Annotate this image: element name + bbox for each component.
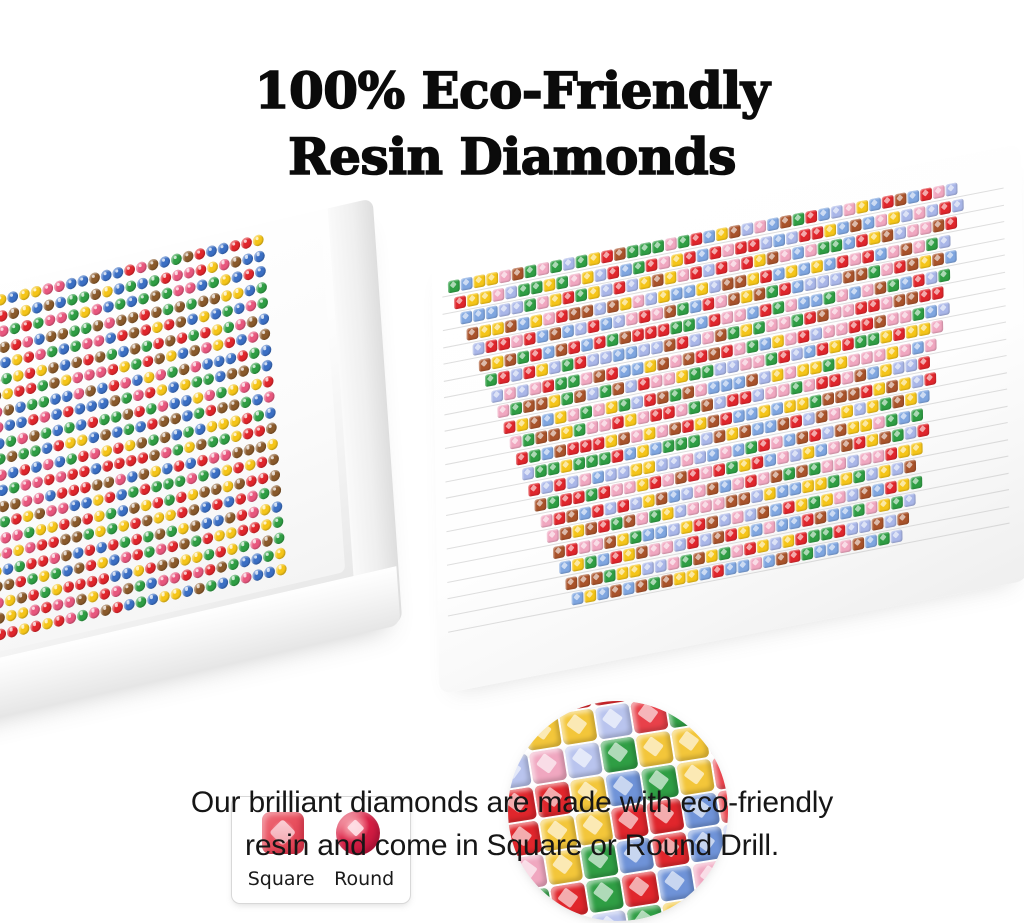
round-drill — [161, 287, 172, 301]
round-drill — [250, 536, 261, 550]
round-drill — [188, 503, 199, 517]
square-drill — [631, 395, 643, 409]
square-drill — [739, 390, 751, 404]
square-drill — [907, 223, 919, 237]
square-drill — [740, 357, 752, 371]
round-drill — [127, 485, 138, 499]
square-drill — [601, 249, 613, 263]
square-drill — [886, 379, 898, 393]
round-drill — [206, 419, 217, 433]
round-drill — [90, 287, 101, 301]
square-drill — [745, 473, 757, 487]
square-drill — [587, 387, 599, 401]
square-drill — [511, 334, 523, 348]
round-drill — [162, 302, 173, 316]
square-drill — [848, 386, 860, 400]
round-drill — [73, 561, 84, 575]
round-drill — [78, 290, 89, 304]
square-drill — [580, 371, 592, 385]
square-drill — [891, 495, 903, 509]
square-drill — [517, 383, 529, 397]
square-drill — [886, 345, 898, 359]
round-drill — [120, 376, 131, 390]
round-drill — [77, 449, 88, 463]
round-drill — [163, 477, 174, 491]
square-drill — [702, 364, 714, 378]
round-drill — [240, 570, 251, 584]
round-drill — [233, 461, 244, 475]
square-drill — [754, 253, 766, 267]
square-drill — [786, 230, 798, 244]
square-drill — [887, 311, 899, 325]
round-drill — [229, 239, 240, 253]
round-drill — [39, 585, 50, 599]
round-drill — [148, 433, 159, 447]
square-drill — [733, 375, 745, 389]
square-drill — [752, 388, 764, 402]
square-drill — [686, 569, 698, 583]
square-drill — [835, 389, 847, 403]
square-drill — [510, 368, 522, 382]
round-drill — [104, 316, 115, 330]
round-drill — [141, 514, 152, 528]
square-drill — [913, 273, 925, 287]
square-drill — [650, 408, 662, 422]
round-drill — [21, 494, 32, 508]
round-drill — [146, 417, 157, 431]
square-drill — [517, 316, 529, 330]
square-drill — [879, 397, 891, 411]
square-drill — [836, 321, 848, 335]
square-drill — [550, 293, 562, 307]
round-drill — [263, 549, 274, 563]
round-drill — [113, 282, 124, 296]
round-drill — [259, 502, 270, 516]
round-drill — [106, 522, 117, 536]
round-drill — [170, 412, 181, 426]
square-drill — [707, 719, 728, 756]
square-drill — [675, 470, 687, 484]
round-drill — [228, 558, 239, 572]
round-drill — [171, 427, 182, 441]
square-drill — [592, 503, 604, 517]
round-drill — [146, 576, 157, 590]
round-drill — [35, 348, 46, 362]
round-drill — [112, 600, 123, 614]
round-drill — [112, 266, 123, 280]
round-drill — [0, 356, 11, 370]
square-drill — [652, 239, 664, 253]
square-drill — [591, 537, 603, 551]
round-drill — [244, 458, 255, 472]
round-drill — [179, 378, 190, 392]
round-drill — [182, 250, 193, 264]
square-drill — [473, 341, 485, 355]
square-drill — [556, 275, 568, 289]
square-drill — [549, 327, 561, 341]
square-drill — [636, 545, 648, 559]
square-drill — [606, 400, 618, 414]
square-drill — [550, 882, 589, 919]
square-drill — [706, 481, 718, 495]
square-drill — [862, 249, 874, 263]
square-drill — [777, 417, 789, 431]
square-drill — [815, 477, 827, 491]
round-drill — [184, 440, 195, 454]
round-drill — [60, 373, 71, 387]
square-drill — [873, 415, 885, 429]
square-drill — [879, 464, 891, 478]
square-drill — [517, 350, 529, 364]
square-drill — [670, 320, 682, 334]
square-drill — [765, 419, 777, 433]
square-drill — [834, 490, 846, 504]
square-drill — [567, 474, 579, 488]
square-drill — [945, 216, 957, 230]
square-drill — [884, 514, 896, 528]
round-drill — [192, 391, 203, 405]
round-drill — [150, 464, 161, 478]
round-drill — [198, 469, 209, 483]
round-drill — [255, 265, 266, 279]
square-drill — [650, 441, 662, 455]
square-drill — [612, 415, 624, 429]
round-drill — [76, 433, 87, 447]
square-drill — [713, 429, 725, 443]
square-drill — [878, 498, 890, 512]
square-drill — [658, 255, 670, 269]
round-drill — [161, 461, 172, 475]
round-drill — [67, 467, 78, 481]
round-drill — [195, 438, 206, 452]
square-drill — [716, 227, 728, 241]
square-drill — [701, 432, 713, 446]
round-drill — [34, 332, 45, 346]
square-drill — [732, 442, 744, 456]
round-drill — [224, 336, 235, 350]
square-drill — [875, 213, 887, 227]
round-drill — [50, 392, 61, 406]
square-drill — [708, 346, 720, 360]
round-drill — [36, 363, 47, 377]
round-drill — [91, 303, 102, 317]
round-drill — [41, 601, 52, 615]
round-drill — [88, 431, 99, 445]
square-drill — [865, 534, 877, 548]
round-drill — [209, 466, 220, 480]
round-drill — [44, 314, 55, 328]
square-drill — [816, 376, 828, 390]
square-drill — [933, 185, 945, 199]
round-drill — [262, 375, 273, 389]
square-drill — [693, 517, 705, 531]
square-drill — [828, 407, 840, 421]
round-drill — [119, 360, 130, 374]
round-drill — [159, 255, 170, 269]
round-drill — [38, 394, 49, 408]
square-drill — [894, 260, 906, 274]
round-drill — [249, 521, 260, 535]
round-drill — [59, 358, 70, 372]
round-drill — [274, 547, 285, 561]
round-drill — [217, 242, 228, 256]
square-drill — [555, 376, 567, 390]
square-drill — [511, 300, 523, 314]
round-drill — [229, 573, 240, 587]
square-drill — [699, 566, 711, 580]
round-drill — [72, 371, 83, 385]
square-drill — [865, 500, 877, 514]
square-drill — [638, 343, 650, 357]
square-drill — [821, 526, 833, 540]
square-drill — [898, 410, 910, 424]
square-drill — [874, 280, 886, 294]
round-drill — [194, 422, 205, 436]
round-drill — [26, 397, 37, 411]
square-drill — [548, 394, 560, 408]
square-drill — [893, 293, 905, 307]
round-drill — [207, 260, 218, 274]
round-drill — [213, 354, 224, 368]
round-drill — [275, 562, 286, 576]
round-drill — [28, 588, 39, 602]
square-drill — [595, 703, 634, 740]
round-drill — [74, 402, 85, 416]
round-drill — [267, 437, 278, 451]
round-drill — [20, 303, 31, 317]
round-drill — [0, 405, 3, 419]
square-drill — [637, 478, 649, 492]
square-drill — [830, 306, 842, 320]
square-drill — [670, 354, 682, 368]
square-drill — [911, 441, 923, 455]
round-drill — [41, 441, 52, 455]
square-drill — [738, 525, 750, 539]
round-drill — [129, 501, 140, 515]
round-drill — [8, 306, 19, 320]
round-drill — [65, 436, 76, 450]
square-drill — [855, 267, 867, 281]
square-drill — [892, 394, 904, 408]
round-drill — [241, 236, 252, 250]
round-drill — [64, 420, 75, 434]
square-drill — [651, 307, 663, 321]
round-drill — [186, 297, 197, 311]
square-drill — [822, 391, 834, 405]
round-drill — [33, 491, 44, 505]
round-drill — [124, 438, 135, 452]
square-drill — [885, 480, 897, 494]
square-drill — [581, 304, 593, 318]
round-drill — [31, 301, 42, 315]
square-drill — [741, 256, 753, 270]
square-drill — [770, 502, 782, 516]
square-drill — [554, 477, 566, 491]
square-drill — [585, 488, 597, 502]
round-drill — [202, 532, 213, 546]
round-drill — [26, 556, 37, 570]
round-drill — [197, 294, 208, 308]
square-drill — [562, 324, 574, 338]
round-drill — [231, 430, 242, 444]
square-drill — [663, 405, 675, 419]
square-drill — [772, 334, 784, 348]
square-drill — [735, 240, 747, 254]
square-drill — [904, 493, 916, 507]
round-drill — [18, 447, 29, 461]
square-drill — [690, 232, 702, 246]
round-drill — [144, 545, 155, 559]
round-drill — [53, 439, 64, 453]
round-drill — [255, 440, 266, 454]
square-drill — [911, 374, 923, 388]
square-drill — [905, 358, 917, 372]
round-drill — [190, 359, 201, 373]
round-drill — [109, 394, 120, 408]
square-drill — [485, 373, 497, 387]
square-drill — [713, 496, 725, 510]
round-drill — [140, 323, 151, 337]
round-drill — [220, 273, 231, 287]
square-drill — [649, 509, 661, 523]
round-drill — [88, 606, 99, 620]
square-drill — [578, 539, 590, 553]
square-drill — [720, 411, 732, 425]
round-drill — [3, 403, 14, 417]
round-drill — [2, 387, 13, 401]
square-drill — [695, 349, 707, 363]
square-drill — [568, 373, 580, 387]
square-drill — [572, 557, 584, 571]
round-drill — [31, 460, 42, 474]
round-drill — [246, 315, 257, 329]
square-drill — [604, 501, 616, 515]
square-drill — [783, 500, 795, 514]
square-drill — [593, 368, 605, 382]
round-drill — [15, 575, 26, 589]
square-drill — [721, 344, 733, 358]
square-drill — [874, 314, 886, 328]
square-drill — [827, 542, 839, 556]
round-drill — [134, 579, 145, 593]
round-drill — [19, 462, 30, 476]
round-drill — [270, 484, 281, 498]
square-drill — [575, 288, 587, 302]
square-drill — [636, 511, 648, 525]
round-drill — [208, 276, 219, 290]
round-drill — [130, 357, 141, 371]
square-drill — [830, 272, 842, 286]
square-drill — [753, 287, 765, 301]
square-drill — [803, 378, 815, 392]
square-drill — [880, 329, 892, 343]
square-drill — [751, 455, 763, 469]
square-drill — [895, 192, 907, 206]
round-drill — [159, 430, 170, 444]
round-drill — [92, 493, 103, 507]
round-drill — [116, 488, 127, 502]
square-drill — [785, 264, 797, 278]
round-drill — [265, 406, 276, 420]
square-drill — [505, 285, 517, 299]
square-drill — [594, 301, 606, 315]
round-drill — [143, 370, 154, 384]
round-drill — [40, 426, 51, 440]
square-drill — [676, 335, 688, 349]
square-drill-tray — [432, 143, 1024, 694]
square-drill — [752, 422, 764, 436]
round-drill — [245, 299, 256, 313]
square-drill — [737, 559, 749, 573]
square-drill — [504, 386, 516, 400]
round-drill — [100, 428, 111, 442]
round-drill — [49, 376, 60, 390]
square-drill — [777, 450, 789, 464]
square-drill — [578, 573, 590, 587]
square-drill — [524, 298, 536, 312]
round-drill — [226, 367, 237, 381]
round-drill — [193, 566, 204, 580]
round-drill — [27, 572, 38, 586]
square-drill — [651, 340, 663, 354]
square-drill — [623, 514, 635, 528]
square-drill — [528, 482, 540, 496]
round-drill — [142, 529, 153, 543]
square-drill — [573, 423, 585, 437]
square-drill — [926, 203, 938, 217]
round-drill — [75, 418, 86, 432]
round-drill — [98, 572, 109, 586]
square-drill — [748, 238, 760, 252]
round-drill — [156, 383, 167, 397]
round-drill — [92, 318, 103, 332]
round-drill — [63, 580, 74, 594]
square-drill — [632, 361, 644, 375]
square-drill — [598, 519, 610, 533]
square-drill — [859, 485, 871, 499]
round-drill — [183, 265, 194, 279]
square-drill — [572, 524, 584, 538]
square-drill — [584, 589, 596, 603]
round-drill — [197, 453, 208, 467]
square-drill — [789, 482, 801, 496]
square-drill — [861, 316, 873, 330]
square-drill — [681, 520, 693, 534]
round-drill — [247, 489, 258, 503]
square-drill — [784, 365, 796, 379]
round-drill — [95, 365, 106, 379]
square-drill — [809, 394, 821, 408]
square-drill — [617, 498, 629, 512]
round-drill — [259, 328, 270, 342]
square-drill — [821, 459, 833, 473]
square-drill — [633, 260, 645, 274]
square-drill — [841, 438, 853, 452]
square-drill — [873, 381, 885, 395]
round-drill — [237, 349, 248, 363]
round-drill — [218, 257, 229, 271]
square-drill — [693, 551, 705, 565]
round-drill — [260, 343, 271, 357]
square-drill — [760, 302, 772, 316]
round-drill — [215, 545, 226, 559]
square-drill — [661, 540, 673, 554]
round-drill — [203, 372, 214, 386]
square-drill — [714, 395, 726, 409]
round-drill — [0, 596, 4, 610]
square-drill — [662, 506, 674, 520]
square-drill — [643, 460, 655, 474]
